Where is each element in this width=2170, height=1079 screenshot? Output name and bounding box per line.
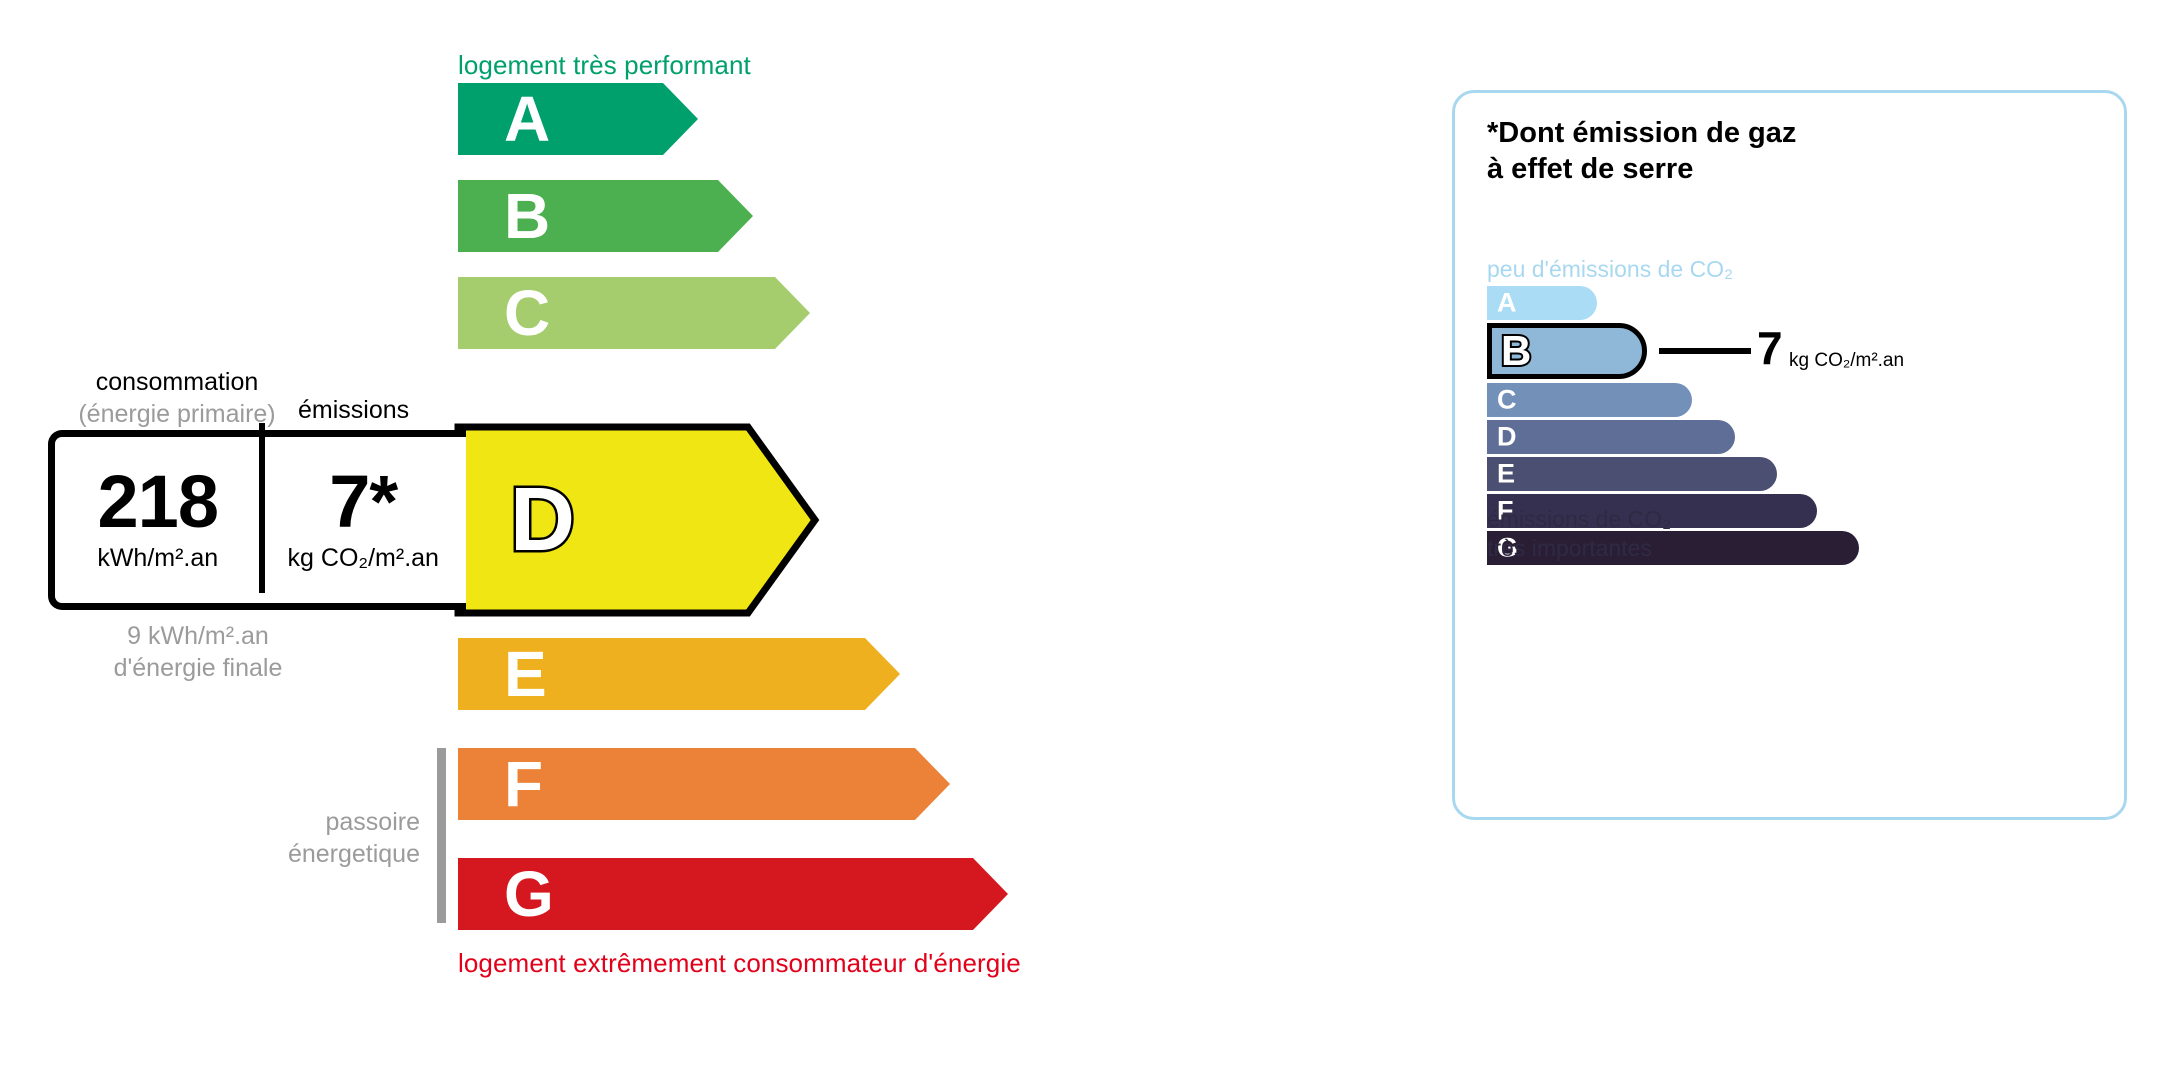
- energy-letter-D: D: [510, 475, 575, 565]
- energy-row-F: F: [458, 748, 950, 820]
- energy-row-D-selected: D: [458, 427, 818, 613]
- consumption-value: 218: [55, 467, 261, 537]
- energy-row-E: E: [458, 638, 900, 710]
- co2-bar-E: [1487, 457, 1777, 491]
- co2-bar-D: [1487, 420, 1735, 454]
- co2-letter-B: B: [1501, 330, 1531, 372]
- energy-bottom-caption: logement extrêmement consommateur d'éner…: [458, 948, 1021, 979]
- co2-panel-title: *Dont émission de gaz à effet de serre: [1487, 115, 1796, 188]
- bar-shape-B: [458, 180, 753, 252]
- consumption-header-main: consommation: [96, 368, 259, 396]
- consumption-value-cell: 218 kWh/m².an: [55, 467, 261, 572]
- passoire-indicator-bar: [437, 748, 446, 923]
- co2-letter-C: C: [1497, 387, 1517, 414]
- consumption-header: consommation (énergie primaire): [62, 367, 292, 430]
- co2-bottom-caption: émissions de CO₂ très importantes: [1487, 505, 1671, 563]
- co2-emissions-panel: *Dont émission de gaz à effet de serre p…: [1452, 90, 2127, 820]
- co2-letter-E: E: [1497, 461, 1515, 488]
- energy-performance-panel: logement très performant A B: [0, 0, 1420, 1079]
- emissions-value: 7*: [261, 467, 467, 537]
- bar-arrow-A: [458, 83, 698, 155]
- emissions-unit: kg CO₂/m².an: [261, 544, 467, 573]
- final-energy-label: d'énergie finale: [48, 652, 348, 684]
- co2-row-D: D: [1487, 420, 2107, 454]
- emissions-value-cell: 7* kg CO₂/m².an: [261, 467, 467, 572]
- energy-letter-A: A: [504, 87, 550, 151]
- final-energy-value: 9 kWh/m².an: [48, 620, 348, 652]
- value-summary-box: 218 kWh/m².an 7* kg CO₂/m².an: [48, 430, 466, 610]
- co2-top-caption: peu d'émissions de CO₂: [1487, 256, 1733, 283]
- co2-row-A: A: [1487, 286, 2107, 320]
- energy-row-A: A: [458, 83, 698, 155]
- consumption-unit: kWh/m².an: [55, 544, 261, 573]
- co2-leader-line: [1659, 348, 1751, 354]
- energy-letter-F: F: [504, 752, 543, 816]
- bar-arrow-B: [458, 180, 753, 252]
- energy-letter-C: C: [504, 281, 550, 345]
- bar-shape-A: [458, 83, 698, 155]
- passoire-line-1: passoire: [150, 806, 420, 838]
- co2-row-E: E: [1487, 457, 2107, 491]
- co2-value: 7: [1757, 325, 1783, 371]
- passoire-energetique-label: passoire énergetique: [150, 806, 420, 870]
- consumption-header-sub: (énergie primaire): [62, 399, 292, 431]
- co2-value-unit: kg CO₂/m².an: [1789, 350, 1904, 372]
- emissions-header: émissions: [298, 396, 409, 425]
- energy-row-B: B: [458, 180, 753, 252]
- passoire-line-2: énergetique: [150, 838, 420, 870]
- co2-letter-D: D: [1497, 424, 1517, 451]
- energy-letter-G: G: [504, 862, 554, 926]
- energy-row-G: G: [458, 858, 1008, 930]
- dpe-diagram: logement très performant A B: [0, 0, 2170, 1079]
- final-energy-note: 9 kWh/m².an d'énergie finale: [48, 620, 348, 684]
- co2-row-C: C: [1487, 383, 2107, 417]
- energy-row-C: C: [458, 277, 810, 349]
- co2-letter-A: A: [1497, 290, 1517, 317]
- co2-bar-C: [1487, 383, 1692, 417]
- co2-row-B-selected: B 7 kg CO₂/m².an: [1487, 323, 2107, 379]
- energy-letter-E: E: [504, 642, 547, 706]
- energy-letter-B: B: [504, 184, 550, 248]
